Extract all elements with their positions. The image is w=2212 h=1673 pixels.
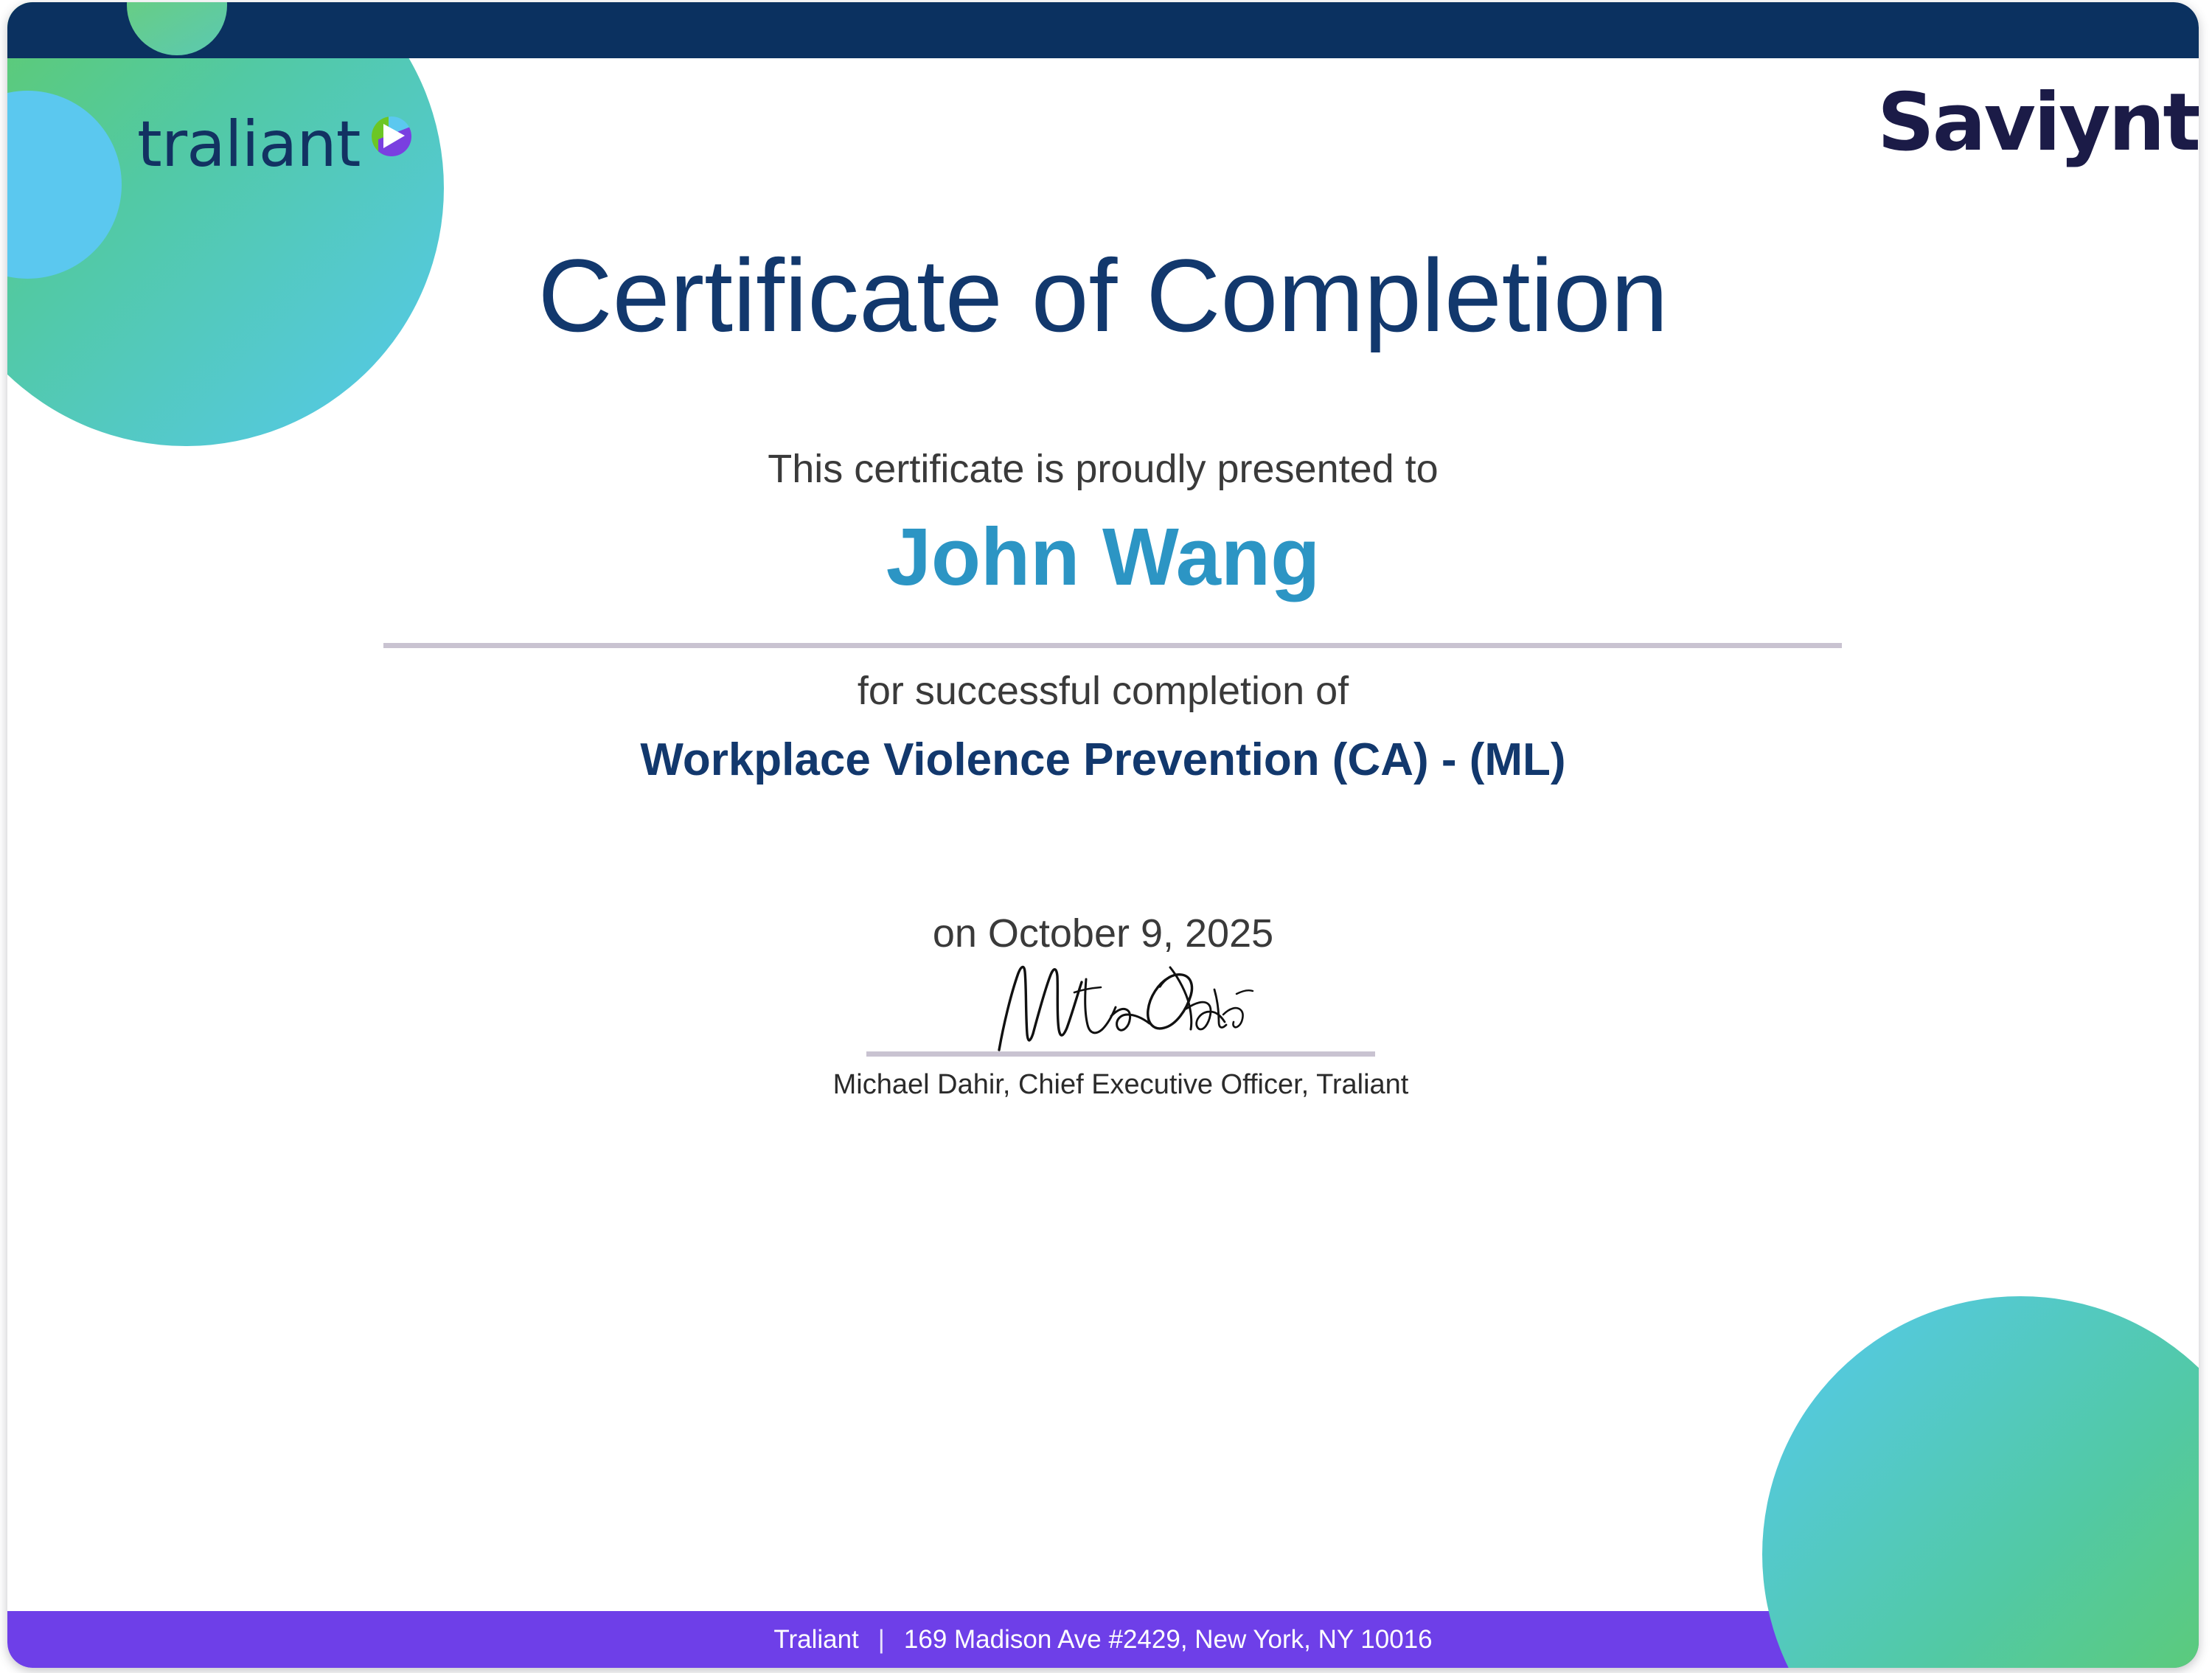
footer-purple-bar: Traliant | 169 Madison Ave #2429, New Yo… [7, 1611, 2199, 1668]
saviynt-logo: Saviynt [1756, 83, 2199, 163]
certificate-page: traliant Saviynt Certificate of Completi… [7, 2, 2199, 1668]
course-name: Workplace Violence Prevention (CA) - (ML… [7, 734, 2199, 786]
traliant-logo: traliant [137, 113, 412, 176]
completion-label: for successful completion of [7, 668, 2199, 714]
footer-text: Traliant | 169 Madison Ave #2429, New Yo… [7, 1611, 2199, 1668]
completion-date: on October 9, 2025 [7, 911, 2199, 956]
signature-divider [866, 1051, 1375, 1057]
traliant-play-circle-icon [371, 116, 412, 161]
presented-to-label: This certificate is proudly presented to [7, 446, 2199, 492]
footer-company: Traliant [773, 1625, 858, 1655]
saviynt-wordmark: Saviynt [1877, 77, 2199, 169]
recipient-name-divider [383, 643, 1842, 648]
footer-address: 169 Madison Ave #2429, New York, NY 1001… [904, 1625, 1433, 1655]
traliant-wordmark: traliant [137, 113, 361, 176]
header-navy-bar [7, 2, 2199, 58]
footer-separator: | [878, 1625, 885, 1655]
recipient-name: John Wang [7, 511, 2199, 605]
top-left-gradient-blob-decoration [7, 2, 444, 446]
certificate-title: Certificate of Completion [7, 238, 2199, 354]
signatory-line: Michael Dahir, Chief Executive Officer, … [800, 1069, 1441, 1101]
handwritten-signature-icon [993, 957, 1259, 1053]
